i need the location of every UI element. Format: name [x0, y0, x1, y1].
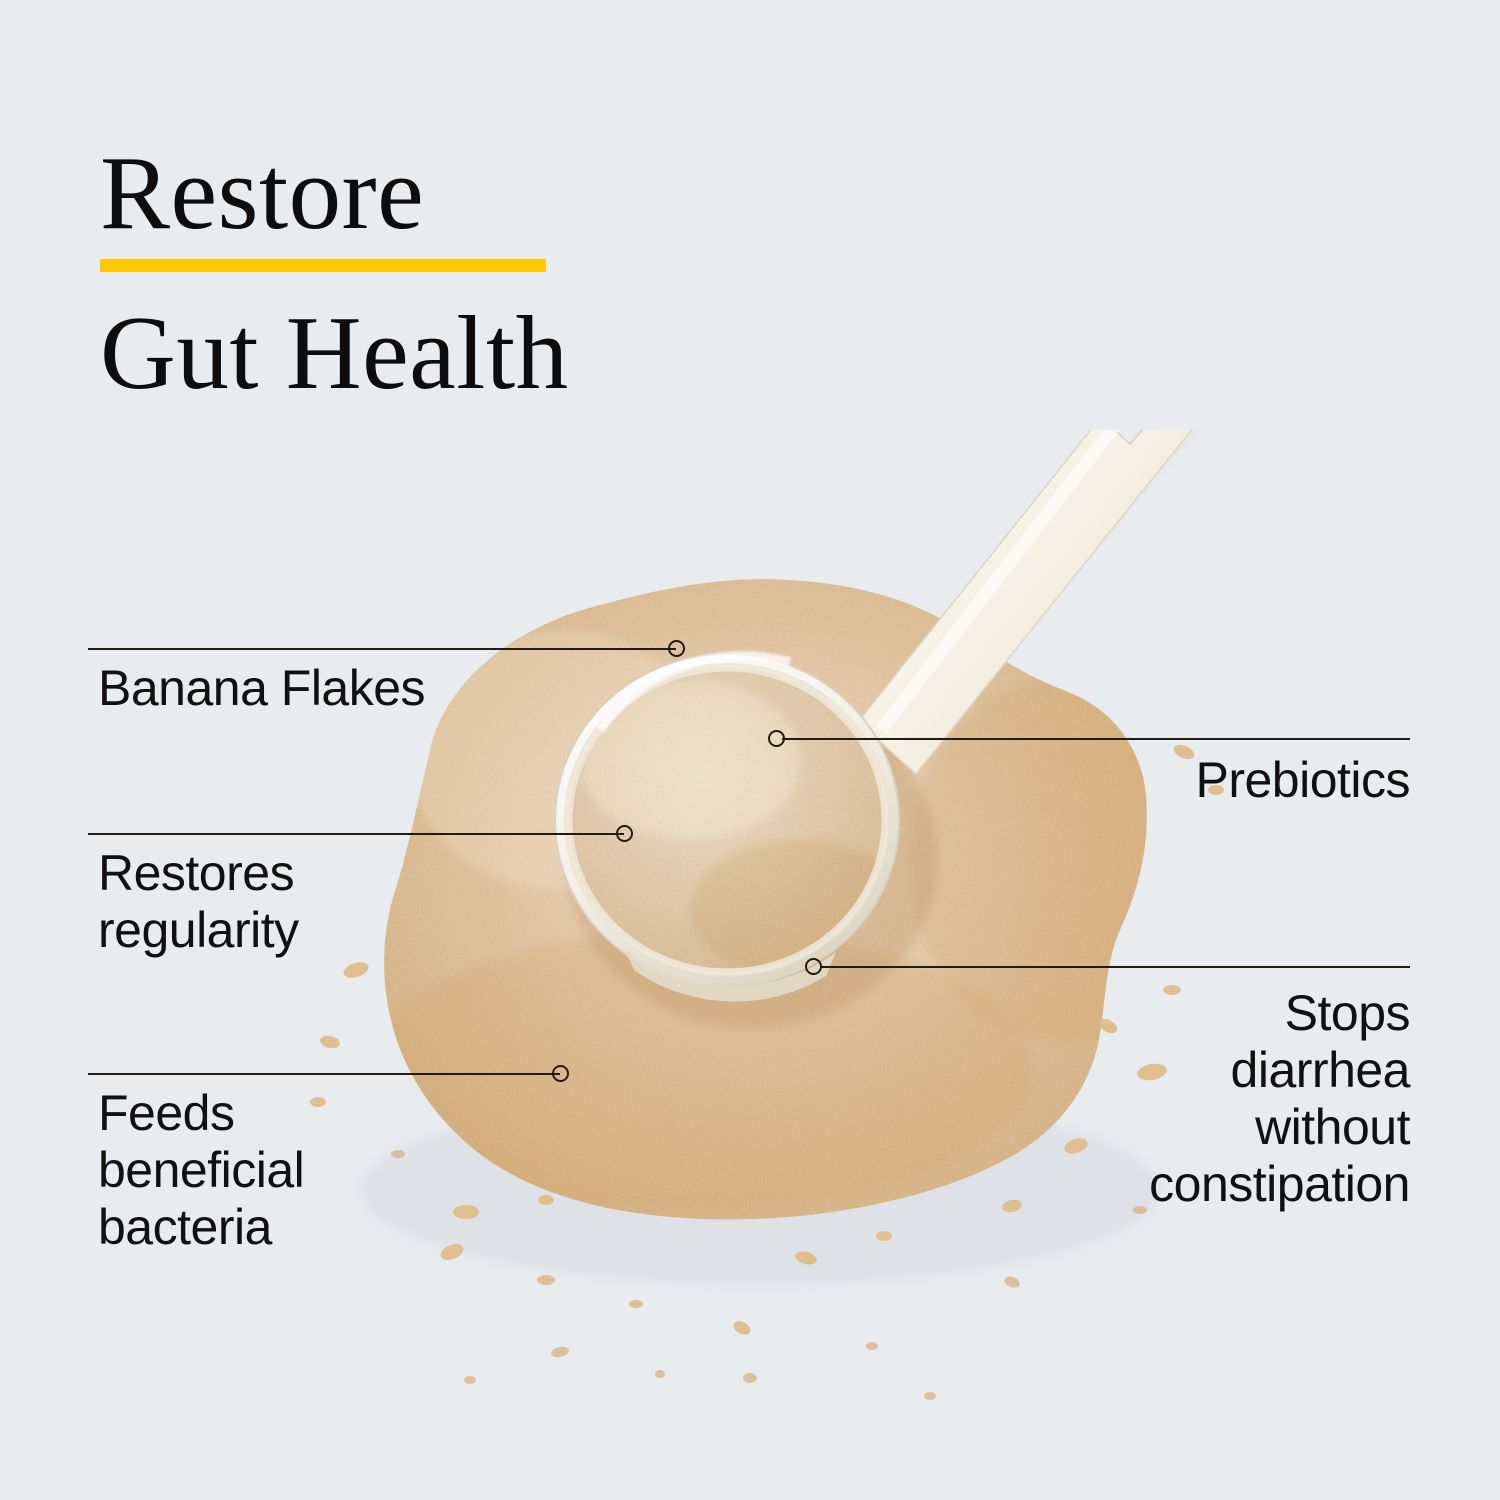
callout-label-restores-regularity: Restores regularity: [98, 845, 299, 959]
leader-dot-banana-flakes: [668, 640, 685, 657]
leader-line-feeds-beneficial-bacteria: [88, 1073, 560, 1075]
heading-block: Restore Gut Health: [100, 140, 860, 405]
yellow-accent-bar: [100, 259, 546, 272]
callout-label-stops-diarrhea: Stops diarrhea without constipation: [1149, 985, 1410, 1213]
callout-label-prebiotics: Prebiotics: [1195, 752, 1410, 809]
leader-dot-prebiotics: [768, 730, 785, 747]
page-title-line-1: Restore: [100, 140, 860, 245]
leader-dot-feeds-beneficial-bacteria: [552, 1065, 569, 1082]
leader-line-stops-diarrhea: [820, 966, 1410, 968]
leader-line-banana-flakes: [88, 648, 676, 650]
callout-label-banana-flakes: Banana Flakes: [98, 660, 425, 717]
leader-line-prebiotics: [782, 738, 1410, 740]
leader-line-restores-regularity: [88, 833, 624, 835]
leader-dot-stops-diarrhea: [805, 958, 822, 975]
page-title-line-2: Gut Health: [100, 300, 860, 405]
leader-dot-restores-regularity: [616, 825, 633, 842]
callout-label-feeds-beneficial-bacteria: Feeds beneficial bacteria: [98, 1085, 304, 1256]
infographic-canvas: Restore Gut Health: [0, 0, 1500, 1500]
